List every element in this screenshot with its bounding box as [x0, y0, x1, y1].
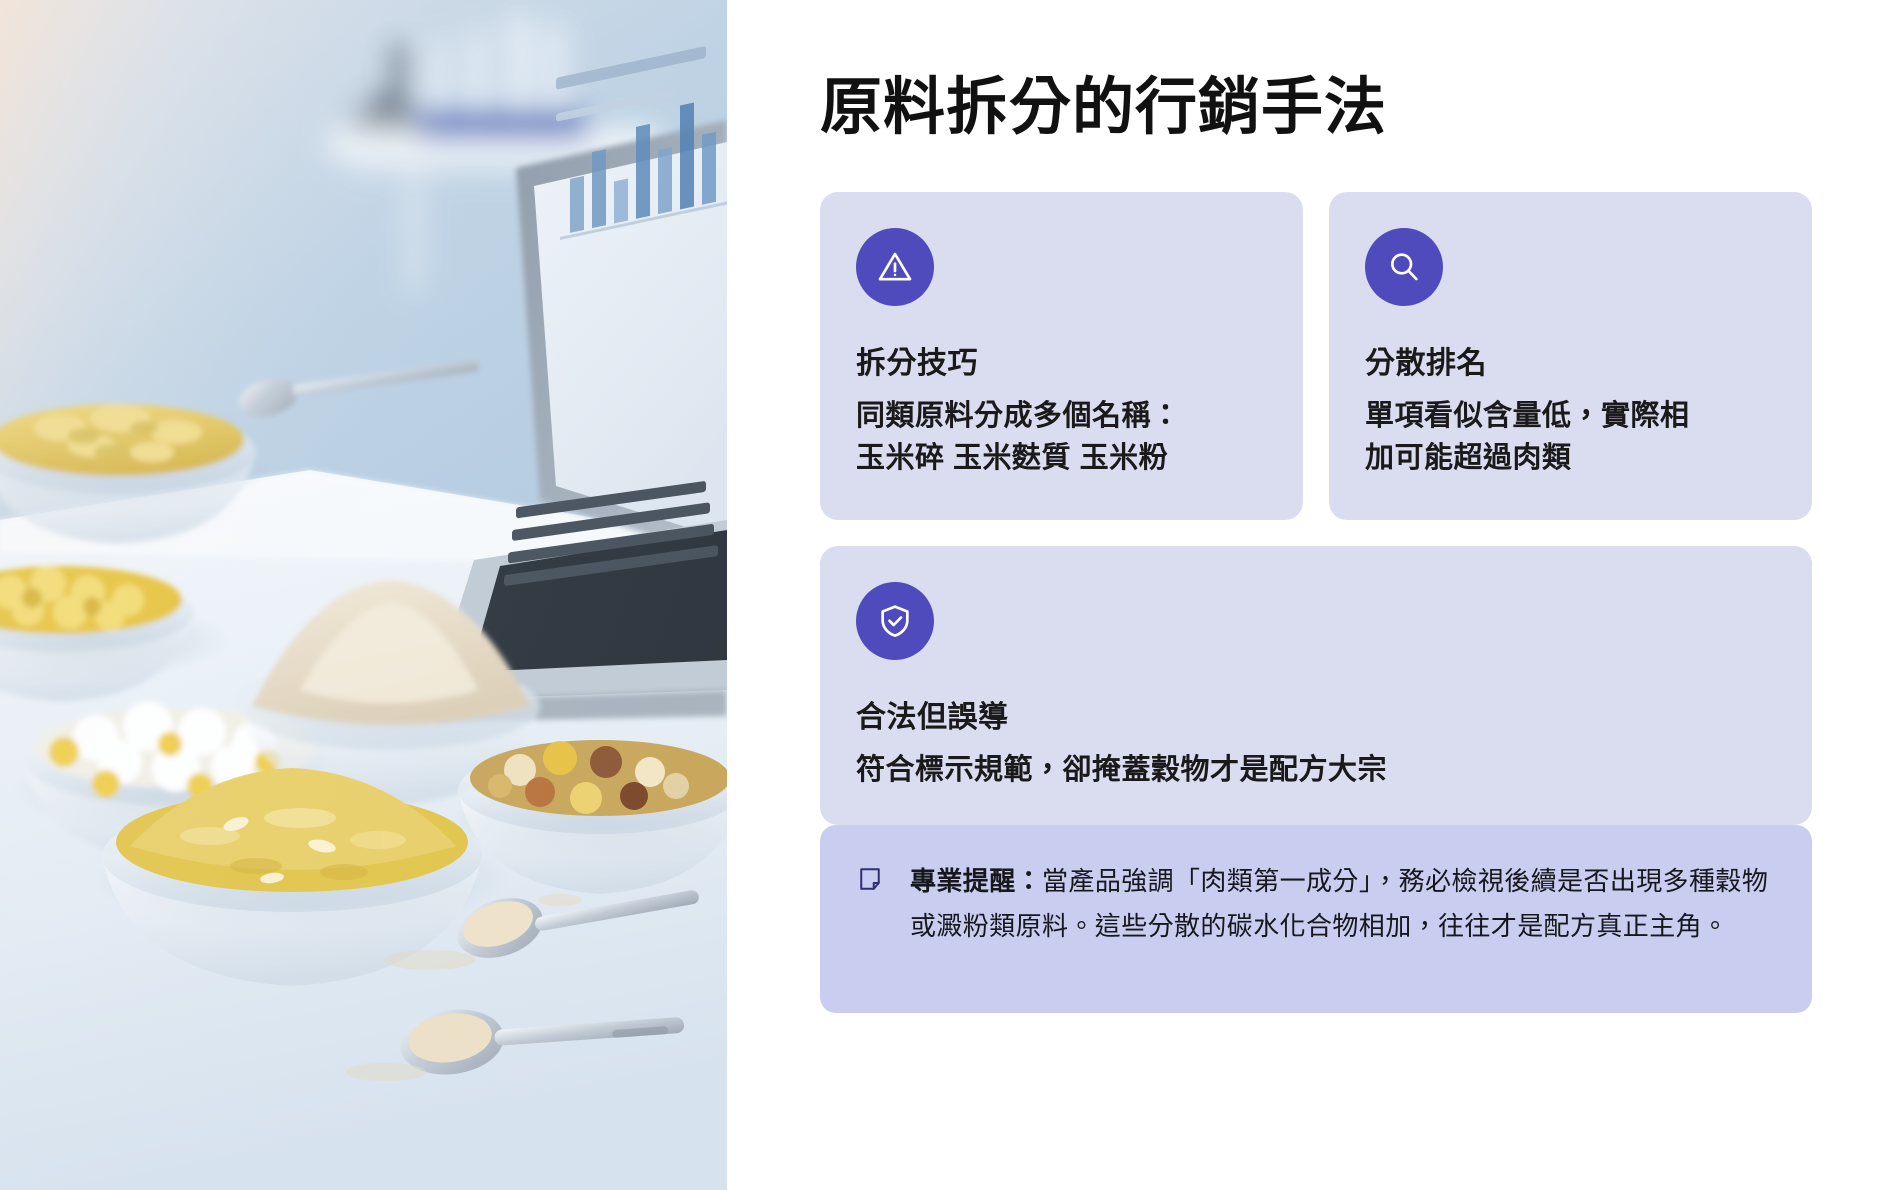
card-splitting-technique: 拆分技巧 同類原料分成多個名稱： 玉米碎 玉米麩質 玉米粉: [820, 192, 1303, 520]
card-body-line: 符合標示規範，卻掩蓋穀物才是配方大宗: [856, 749, 1776, 791]
card-body-line: 加可能超過肉類: [1365, 437, 1776, 479]
warning-triangle-icon: [856, 228, 934, 306]
content-panel: 原料拆分的行銷手法 拆分技巧 同類原料分成多個名稱： 玉米碎 玉米麩質 玉米粉: [727, 0, 1900, 1190]
search-icon: [1365, 228, 1443, 306]
card-row-top: 拆分技巧 同類原料分成多個名稱： 玉米碎 玉米麩質 玉米粉 分散排名 單項看似含…: [820, 192, 1836, 520]
card-title: 合法但誤導: [856, 698, 1776, 737]
note-text: 專業提醒：當產品強調「肉類第一成分」，務必檢視後續是否出現多種穀物或澱粉類原料。…: [910, 859, 1772, 948]
card-ranking-dispersion: 分散排名 單項看似含量低，實際相 加可能超過肉類: [1329, 192, 1812, 520]
shield-check-icon: [856, 582, 934, 660]
card-body: 符合標示規範，卻掩蓋穀物才是配方大宗: [856, 749, 1776, 791]
card-legal-but-misleading: 合法但誤導 符合標示規範，卻掩蓋穀物才是配方大宗: [820, 546, 1812, 825]
slide-root: 原料拆分的行銷手法 拆分技巧 同類原料分成多個名稱： 玉米碎 玉米麩質 玉米粉: [0, 0, 1900, 1190]
page-title: 原料拆分的行銷手法: [820, 72, 1836, 144]
card-body-line: 玉米碎 玉米麩質 玉米粉: [856, 437, 1267, 479]
card-title: 分散排名: [1365, 344, 1776, 383]
card-body-line: 同類原料分成多個名稱：: [856, 395, 1267, 437]
professional-tip-note: 專業提醒：當產品強調「肉類第一成分」，務必檢視後續是否出現多種穀物或澱粉類原料。…: [820, 825, 1812, 1013]
note-icon: [856, 865, 884, 893]
card-body: 單項看似含量低，實際相 加可能超過肉類: [1365, 395, 1776, 479]
card-body: 同類原料分成多個名稱： 玉米碎 玉米麩質 玉米粉: [856, 395, 1267, 479]
card-body-line: 單項看似含量低，實際相: [1365, 395, 1776, 437]
note-label: 專業提醒：: [910, 866, 1042, 896]
hero-photo: [0, 0, 727, 1190]
card-title: 拆分技巧: [856, 344, 1267, 383]
